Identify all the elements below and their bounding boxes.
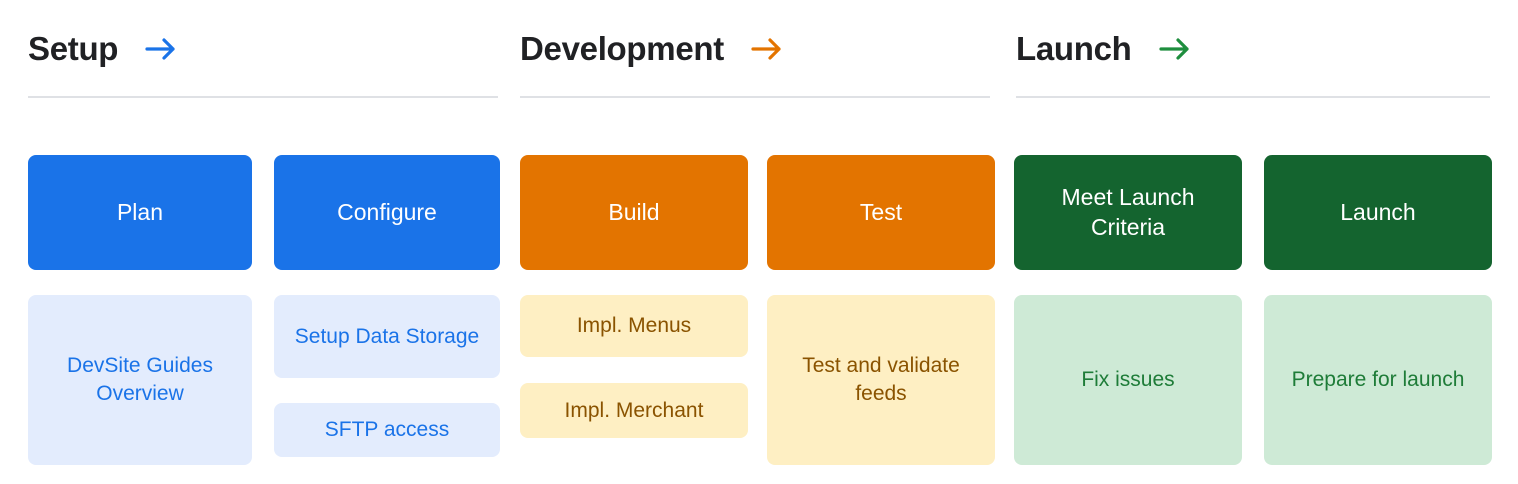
column-test: Test Test and validate feeds — [767, 155, 995, 465]
column-meet-launch-criteria: Meet Launch Criteria Fix issues — [1014, 155, 1242, 465]
arrow-right-icon — [750, 36, 784, 62]
section-header-launch: Launch — [988, 0, 1518, 98]
section-title-development: Development — [520, 32, 724, 65]
stage-card-plan[interactable]: Plan — [28, 155, 252, 270]
arrow-right-icon — [1158, 36, 1192, 62]
section-heading-setup: Setup — [0, 0, 500, 96]
subtask-list-build: Impl. Menus Impl. Merchant — [520, 270, 748, 438]
column-plan: Plan DevSite Guides Overview — [28, 155, 252, 465]
subtask-card[interactable]: Fix issues — [1014, 295, 1242, 465]
subtask-card[interactable]: Impl. Merchant — [520, 383, 748, 438]
section-header-setup: Setup — [0, 0, 500, 98]
subtask-list-configure: Setup Data Storage SFTP access — [274, 270, 500, 457]
roadmap-diagram: Setup Development — [0, 0, 1518, 484]
column-configure: Configure Setup Data Storage SFTP access — [274, 155, 500, 457]
column-build: Build Impl. Menus Impl. Merchant — [520, 155, 748, 438]
stage-card-test[interactable]: Test — [767, 155, 995, 270]
section-divider-development — [520, 96, 990, 98]
stage-card-configure[interactable]: Configure — [274, 155, 500, 270]
roadmap-columns: Plan DevSite Guides Overview Configure S… — [0, 155, 1518, 465]
section-heading-development: Development — [492, 0, 992, 96]
subtask-card[interactable]: Prepare for launch — [1264, 295, 1492, 465]
subtask-card[interactable]: Setup Data Storage — [274, 295, 500, 378]
section-title-launch: Launch — [1016, 32, 1132, 65]
stage-card-launch[interactable]: Launch — [1264, 155, 1492, 270]
section-heading-launch: Launch — [988, 0, 1518, 96]
section-title-setup: Setup — [28, 32, 118, 65]
section-divider-setup — [28, 96, 498, 98]
subtask-card[interactable]: DevSite Guides Overview — [28, 295, 252, 465]
subtask-list-launch: Prepare for launch — [1264, 270, 1492, 465]
subtask-list-plan: DevSite Guides Overview — [28, 270, 252, 465]
subtask-card[interactable]: SFTP access — [274, 403, 500, 457]
section-header-row: Setup Development — [0, 0, 1518, 130]
subtask-card[interactable]: Impl. Menus — [520, 295, 748, 357]
subtask-list-test: Test and validate feeds — [767, 270, 995, 465]
stage-card-build[interactable]: Build — [520, 155, 748, 270]
arrow-right-icon — [144, 36, 178, 62]
section-divider-launch — [1016, 96, 1490, 98]
stage-card-meet-launch-criteria[interactable]: Meet Launch Criteria — [1014, 155, 1242, 270]
section-header-development: Development — [492, 0, 992, 98]
subtask-list-meet-launch-criteria: Fix issues — [1014, 270, 1242, 465]
subtask-card[interactable]: Test and validate feeds — [767, 295, 995, 465]
column-launch: Launch Prepare for launch — [1264, 155, 1492, 465]
